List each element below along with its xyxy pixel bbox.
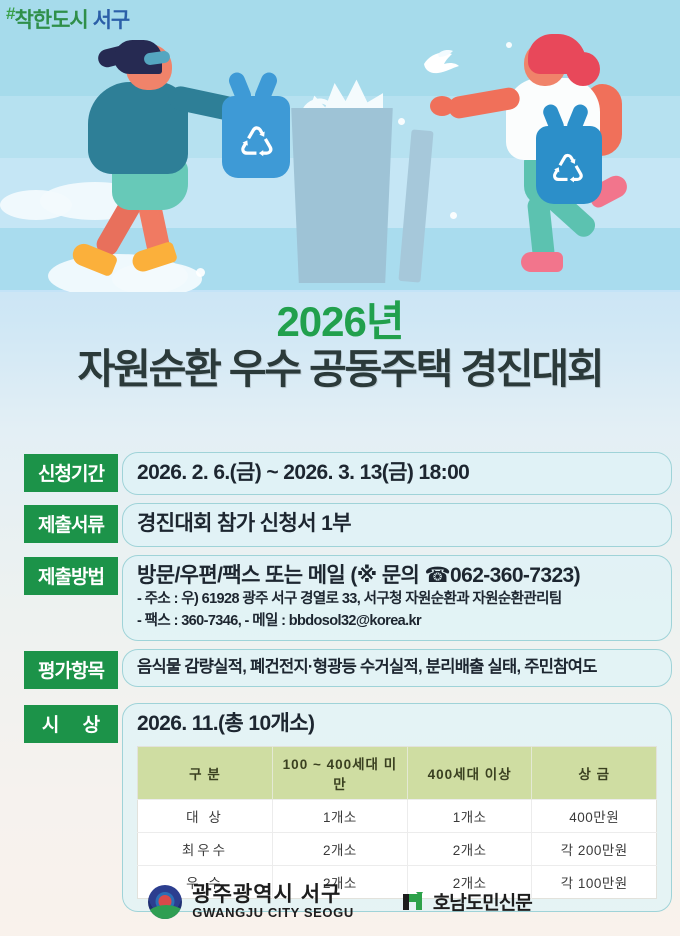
row-label-submission-method: 제출방법 <box>24 557 118 595</box>
table-header-prize: 상 금 <box>532 746 657 799</box>
table-header-large-complex: 400세대 이상 <box>407 746 532 799</box>
row-label-application-period: 신청기간 <box>24 454 118 492</box>
table-cell-prize: 각 200만원 <box>532 832 657 865</box>
title-year: 2026년 <box>0 300 680 344</box>
info-row-documents: 제출서류 경진대회 참가 신청서 1부 <box>0 503 680 546</box>
city-name-en: GWANGJU CITY SEOGU <box>192 906 354 920</box>
city-name-ko: 광주광역시 서구 <box>192 884 354 906</box>
honam-press-logo-icon <box>400 889 426 915</box>
submission-method-text: 방문/우편/팩스 또는 메일 (※ 문의 ☎062-360-7323) <box>137 563 657 589</box>
press-name: 호남도민신문 <box>433 888 532 915</box>
row-label-documents: 제출서류 <box>24 505 118 543</box>
person-right-hand <box>430 96 454 116</box>
brand-tag-part2: 서구 <box>93 9 130 32</box>
dove-icon <box>420 48 460 76</box>
cloud-icon <box>0 190 72 220</box>
info-row-application-period: 신청기간 2026. 2. 6.(금) ~ 2026. 3. 13(금) 18:… <box>0 452 680 495</box>
recycle-icon: ♺ <box>238 122 276 164</box>
title-main: 자원순환 우수 공동주택 경진대회 <box>0 347 680 393</box>
city-brand: 광주광역시 서구 GWANGJU CITY SEOGU <box>148 884 354 920</box>
row-value-submission-method: 방문/우편/팩스 또는 메일 (※ 문의 ☎062-360-7323) - 주소… <box>122 555 672 642</box>
gwangju-seogu-emblem-icon <box>148 885 182 919</box>
table-row: 최우수 2개소 2개소 각 200만원 <box>138 832 657 865</box>
table-cell-category: 최우수 <box>138 832 273 865</box>
press-brand: 호남도민신문 <box>400 888 532 915</box>
recycle-icon: ♺ <box>550 150 586 190</box>
table-cell-prize: 400만원 <box>532 799 657 832</box>
table-header-row: 구 분 100 ~ 400세대 미만 400세대 이상 상 금 <box>138 746 657 799</box>
row-label-award: 시 상 <box>24 705 118 743</box>
table-header-small-complex: 100 ~ 400세대 미만 <box>272 746 407 799</box>
row-label-evaluation-items: 평가항목 <box>24 651 118 689</box>
row-value-application-period: 2026. 2. 6.(금) ~ 2026. 3. 13(금) 18:00 <box>122 452 672 495</box>
award-table: 구 분 100 ~ 400세대 미만 400세대 이상 상 금 대 상 1개소 … <box>137 746 657 899</box>
brand-tag: #착한도시 서구 <box>6 4 129 34</box>
brand-tag-part1: 착한도시 <box>14 9 87 32</box>
page-title: 2026년 자원순환 우수 공동주택 경진대회 <box>0 300 680 393</box>
trash-bin-icon <box>288 108 396 283</box>
snow-dot <box>398 118 405 125</box>
row-value-evaluation-items: 음식물 감량실적, 폐건전지·형광등 수거실적, 분리배출 실태, 주민참여도 <box>122 649 672 687</box>
table-header-category: 구 분 <box>138 746 273 799</box>
submission-fax-mail-line: - 팩스 : 360-7346, - 메일 : bbdosol32@korea.… <box>137 611 657 633</box>
info-row-award: 시 상 2026. 11.(총 10개소) 구 분 100 ~ 400세대 미만… <box>0 703 680 911</box>
info-rows: 신청기간 2026. 2. 6.(금) ~ 2026. 3. 13(금) 18:… <box>0 452 680 920</box>
person-right-shoe-back <box>521 252 563 272</box>
row-value-award: 2026. 11.(총 10개소) 구 분 100 ~ 400세대 미만 400… <box>122 703 672 911</box>
evaluation-items-text: 음식물 감량실적, 폐건전지·형광등 수거실적, 분리배출 실태, 주민참여도 <box>137 657 657 678</box>
snow-dot <box>506 42 512 48</box>
table-cell-large-complex: 2개소 <box>407 832 532 865</box>
award-date-text: 2026. 11.(총 10개소) <box>137 711 657 737</box>
table-cell-small-complex: 2개소 <box>272 832 407 865</box>
submission-address-line: - 주소 : 우) 61928 광주 서구 경열로 33, 서구청 자원순환과 … <box>137 589 657 611</box>
application-period-text: 2026. 2. 6.(금) ~ 2026. 3. 13(금) 18:00 <box>137 460 657 486</box>
table-cell-large-complex: 1개소 <box>407 799 532 832</box>
poster-root: ♺ ♺ #착한도시 서구 2026년 자원순환 우수 공동주택 경진대회 신청기… <box>0 0 680 936</box>
row-value-documents: 경진대회 참가 신청서 1부 <box>122 503 672 546</box>
info-row-evaluation-items: 평가항목 음식물 감량실적, 폐건전지·형광등 수거실적, 분리배출 실태, 주… <box>0 649 680 689</box>
snow-dot <box>196 268 205 277</box>
table-cell-small-complex: 1개소 <box>272 799 407 832</box>
table-cell-category: 대 상 <box>138 799 273 832</box>
table-row: 대 상 1개소 1개소 400만원 <box>138 799 657 832</box>
info-row-submission-method: 제출방법 방문/우편/팩스 또는 메일 (※ 문의 ☎062-360-7323)… <box>0 555 680 642</box>
documents-text: 경진대회 참가 신청서 1부 <box>137 511 657 537</box>
footer: 광주광역시 서구 GWANGJU CITY SEOGU 호남도민신문 <box>0 884 680 920</box>
city-brand-text: 광주광역시 서구 GWANGJU CITY SEOGU <box>192 884 354 920</box>
snow-dot <box>450 212 457 219</box>
header-illustration: ♺ ♺ <box>0 0 680 292</box>
